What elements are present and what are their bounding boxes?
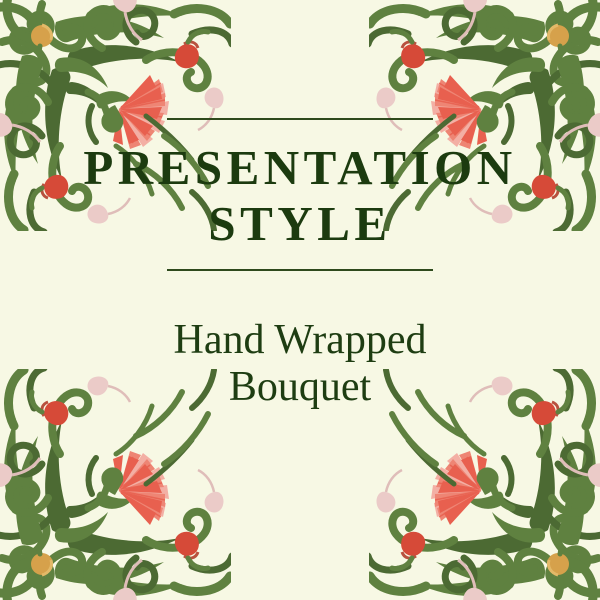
center-text-block: PRESENTATION STYLE Hand Wrapped Bouquet	[0, 118, 600, 411]
page-title-line-1: PRESENTATION	[83, 140, 516, 195]
page-subtitle: Hand Wrapped Bouquet	[150, 271, 450, 411]
presentation-style-card: PRESENTATION STYLE Hand Wrapped Bouquet	[0, 0, 600, 600]
top-divider-rule	[167, 118, 433, 120]
page-title-line-2: STYLE	[83, 196, 516, 252]
page-title: PRESENTATION STYLE	[83, 140, 516, 253]
